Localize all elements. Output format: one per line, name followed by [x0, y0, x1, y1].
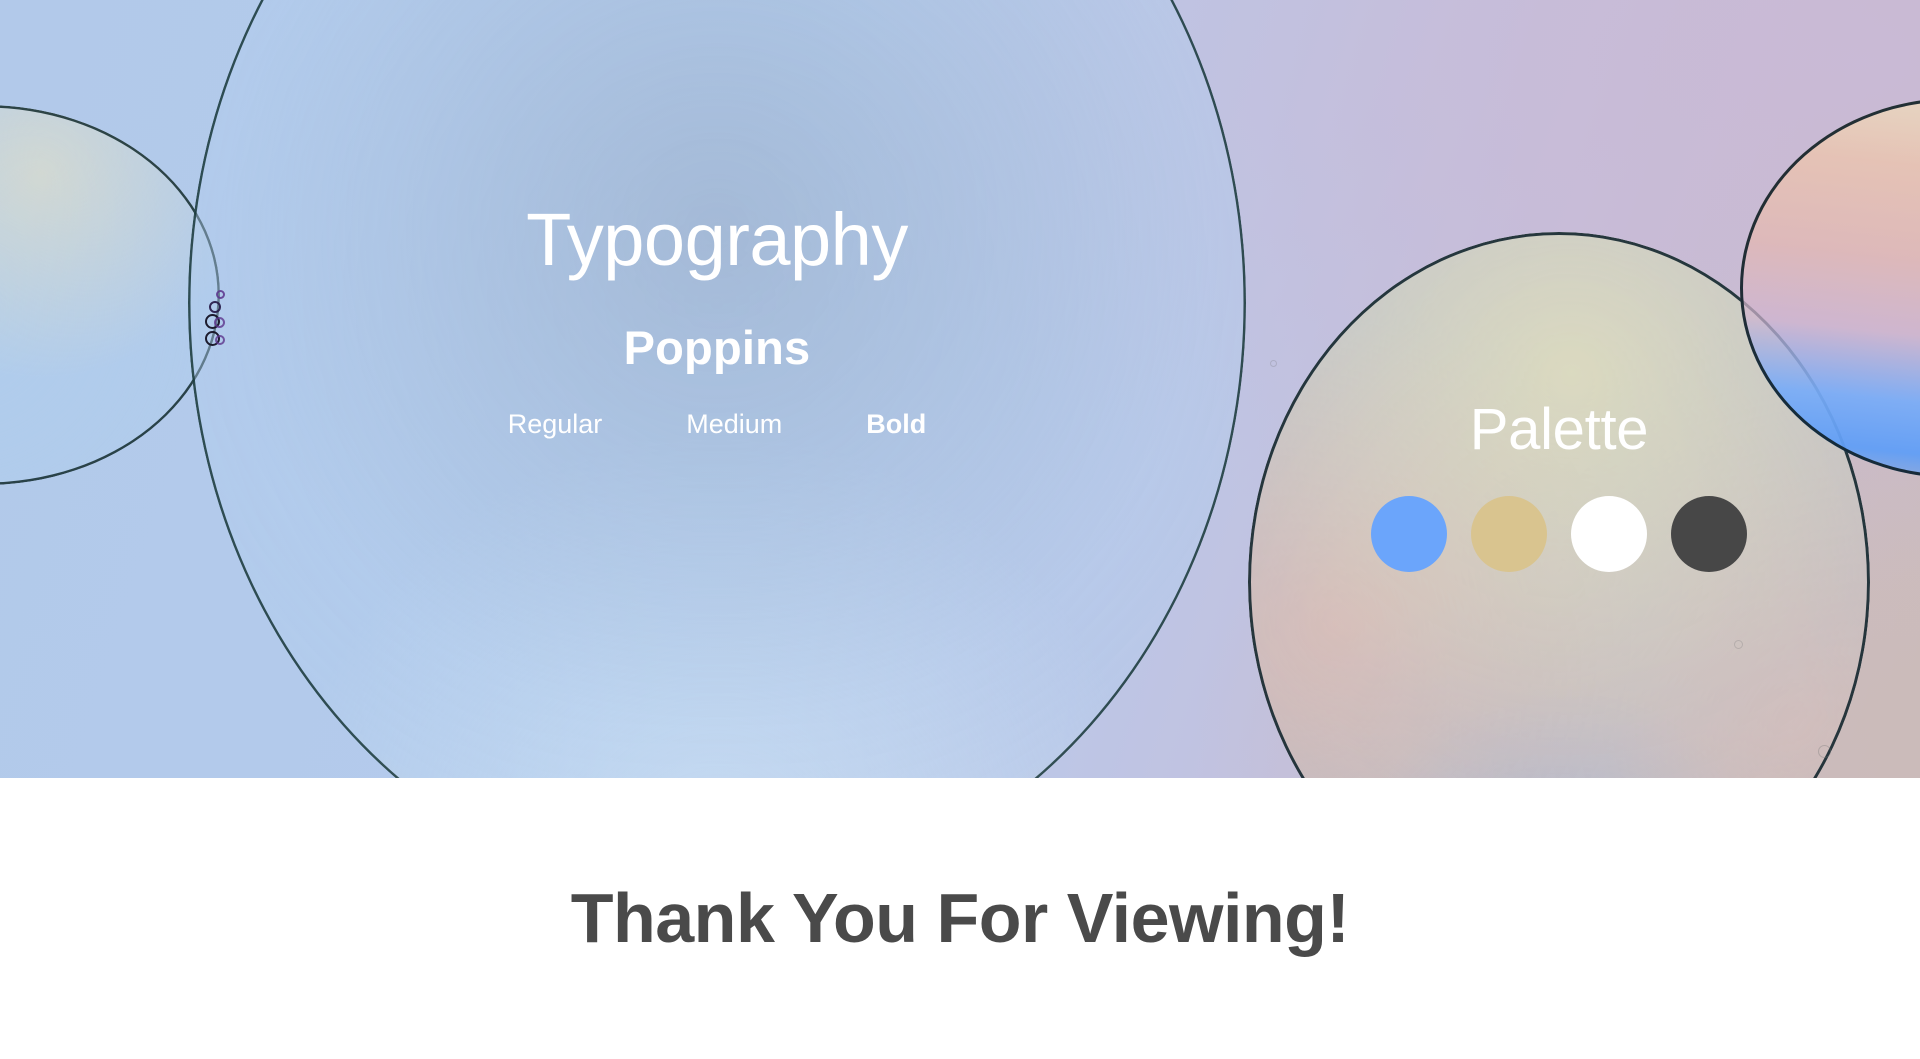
bubble-speck [1734, 640, 1743, 649]
palette-title: Palette [1248, 398, 1870, 462]
hero-section: Typography Poppins Regular Medium Bold P… [0, 0, 1920, 778]
font-weight-bold: Bold [866, 408, 926, 440]
typography-card: Typography Poppins Regular Medium Bold [188, 200, 1246, 440]
bubble-speck [1818, 745, 1831, 758]
color-swatch-neutral-charcoal[interactable] [1671, 496, 1747, 572]
closing-section: Thank You For Viewing! [0, 778, 1920, 1059]
color-swatch-accent-sand[interactable] [1471, 496, 1547, 572]
color-swatch-primary-blue[interactable] [1371, 496, 1447, 572]
font-weight-medium: Medium [686, 408, 782, 440]
font-family-name: Poppins [188, 322, 1246, 374]
font-weight-regular: Regular [508, 408, 603, 440]
bubble-speck [1270, 360, 1277, 367]
color-swatch-neutral-white[interactable] [1571, 496, 1647, 572]
palette-swatch-row [1248, 496, 1870, 572]
palette-card: Palette [1248, 398, 1870, 572]
closing-title: Thank You For Viewing! [571, 878, 1350, 959]
bubble-top-left [0, 105, 220, 485]
typography-title: Typography [188, 200, 1246, 280]
slide-canvas: Typography Poppins Regular Medium Bold P… [0, 0, 1920, 1059]
font-weights-row: Regular Medium Bold [188, 408, 1246, 440]
